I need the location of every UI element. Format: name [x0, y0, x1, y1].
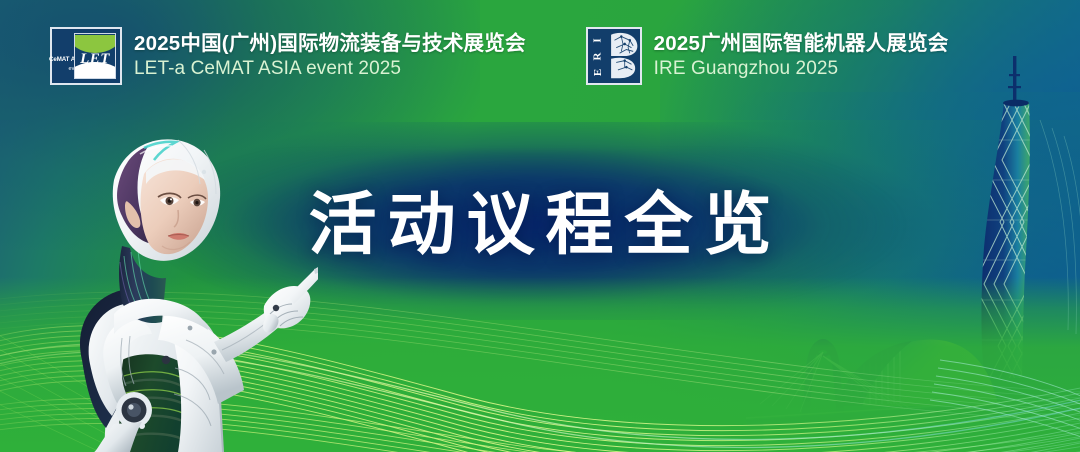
ire-robot-head-icon — [606, 31, 640, 81]
banner-header: a CeMAT ASIA event LET 2025中国(广州)国际物流装备与… — [0, 0, 1080, 112]
ire-title-en: IRE Guangzhou 2025 — [654, 58, 949, 80]
ire-logo-block[interactable]: I R E — [586, 27, 949, 85]
let-cemat-asia-logo-icon: a CeMAT ASIA event LET — [50, 27, 122, 85]
let-title-cn: 2025中国(广州)国际物流装备与技术展览会 — [134, 32, 526, 56]
ire-letters: I R E — [591, 32, 606, 80]
ire-logo-text: 2025广州国际智能机器人展览会 IRE Guangzhou 2025 — [654, 32, 949, 79]
event-banner: a CeMAT ASIA event LET 2025中国(广州)国际物流装备与… — [0, 0, 1080, 452]
ire-letter-e: E — [593, 68, 604, 75]
let-title-en: LET-a CeMAT ASIA event 2025 — [134, 58, 526, 80]
let-logo-block[interactable]: a CeMAT ASIA event LET 2025中国(广州)国际物流装备与… — [50, 27, 526, 85]
let-mark-inner: LET — [74, 33, 116, 79]
ire-logo-icon: I R E — [586, 27, 642, 85]
let-logo-text: 2025中国(广州)国际物流装备与技术展览会 LET-a CeMAT ASIA … — [134, 32, 526, 79]
ire-title-cn: 2025广州国际智能机器人展览会 — [654, 32, 949, 56]
ire-letter-r: R — [593, 52, 604, 60]
let-wordmark: LET — [75, 51, 115, 68]
background-bottom-green — [0, 277, 1080, 452]
ire-letter-i: I — [593, 38, 604, 42]
